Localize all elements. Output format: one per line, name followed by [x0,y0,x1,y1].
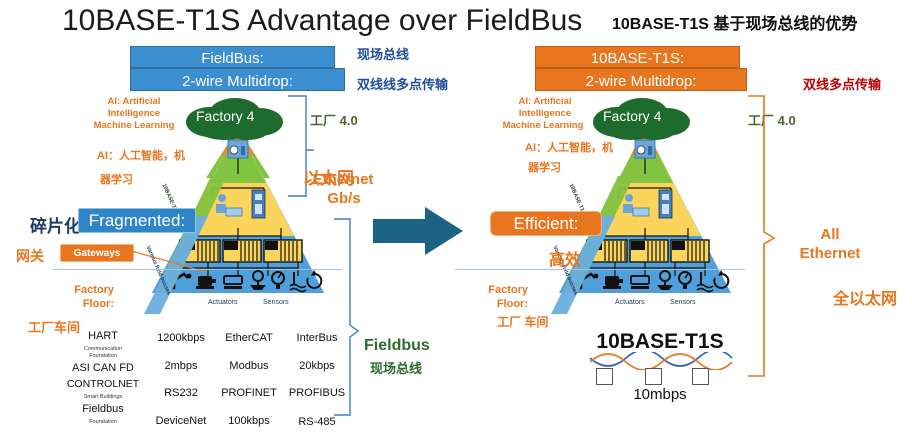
fb-c2-r1: 1200kbps [142,332,220,345]
t1s-node-3 [692,368,709,385]
svg-text:Sensors: Sensors [263,299,289,306]
right-factoryfloor-line1: Factory [450,283,528,297]
page-title-english: 10BASE-T1S Advantage over FieldBus [62,4,622,38]
left-gateway-leader-line [128,248,208,276]
left-ethernet-en1: Ethernet [295,170,391,189]
fb-c3-r3: PROFINET [210,387,288,400]
right-banner-t1s: 10BASE-T1S: [535,46,740,68]
right-ai-line2: Intelligence [495,108,595,120]
left-fragmented-zh: 碎片化 [30,212,81,237]
right-t1s-rate: 10mbps [560,386,760,403]
left-banner-multidrop: 2-wire Multidrop: [130,68,345,91]
left-divider [52,268,342,271]
fb-c1-r4: Fieldbus [64,403,142,416]
fb-c2-r4: DeviceNet [142,415,220,428]
right-t1s-label: 10BASE-T1S [560,330,760,354]
svg-text:Sensors: Sensors [670,299,696,306]
fb-c1-r2: ASI CAN FD [64,362,142,375]
fb-c2-r2: 2mbps [142,360,220,373]
t1s-node-2 [645,368,662,385]
svg-text:Actuators: Actuators [208,299,238,306]
fb-c1-r4-sub1: Foundation [64,419,142,426]
right-banner-multidrop: 2-wire Multidrop: [535,68,747,91]
fb-c2-r3: RS232 [142,387,220,400]
right-factoryfloor-line2: Floor: [450,297,528,311]
left-banner-zh-fieldbus: 现场总线 [357,44,409,63]
fb-c1-r3-sub1: Smart Buildings [64,394,142,401]
left-brace-fieldbus [330,215,360,421]
svg-text:Actuators: Actuators [615,299,645,306]
left-factoryfloor-line2: Floor: [36,297,114,311]
left-cloud-label: Factory 4 [196,108,254,124]
fb-c3-r2: Modbus [210,360,288,373]
fb-c3-r4: 100kbps [210,415,288,428]
fieldbus-column-2: 1200kbps 2mbps RS232 DeviceNet [142,332,220,431]
left-ai-line2: Intelligence [84,108,184,120]
left-gateways-callout[interactable]: Gateways [60,244,134,262]
fb-c1-r1: HART [64,330,142,343]
right-efficient-callout[interactable]: Efficient: [490,211,602,236]
fb-c1-r1-sub2: Foundation [64,353,142,360]
slide-canvas: 10BASE-T1S Advantage over FieldBus 10BAS… [0,0,912,430]
left-factory40-label: 工厂 4.0 [310,110,358,129]
left-factoryfloor-line1: Factory [36,283,114,297]
right-factoryfloor-zh: 工厂 车间 [497,313,548,330]
right-all-ethernet-line2: Ethernet [763,244,897,263]
right-efficient-zh: 高效 [549,246,581,270]
left-gateways-zh: 网关 [16,246,44,266]
fieldbus-column-1: HART Communication Foundation ASI CAN FD… [64,330,142,425]
right-all-ethernet-line1: All [780,225,880,244]
left-ai-line1: AI: Artificial [84,96,184,108]
left-ai-zh-line2: 器学习 [100,172,133,188]
fb-c3-r1: EtherCAT [210,332,288,345]
left-banner-fieldbus: FieldBus: [130,46,335,68]
right-all-ethernet-zh: 全以太网 [833,285,897,309]
left-fieldbus-brace-label-en: Fieldbus [364,337,430,355]
left-fragmented-callout[interactable]: Fragmented: [78,208,196,233]
left-banner-zh-multidrop: 双线线多点传输 [357,74,448,93]
t1s-node-1 [596,368,613,385]
transition-arrow-icon [373,205,465,257]
right-ai-line1: AI: Artificial [495,96,595,108]
right-cloud-label: Factory 4 [603,108,661,124]
fieldbus-column-3: EtherCAT Modbus PROFINET 100kbps [210,332,288,431]
page-title-chinese: 10BASE-T1S 基于现场总线的优势 [612,10,912,34]
right-divider [455,268,745,271]
fb-c1-r3: CONTROLNET [64,378,142,391]
left-fieldbus-brace-label-zh: 现场总线 [370,358,422,377]
right-banner-zh-multidrop: 双线多点传输 [803,74,881,93]
fieldbus-name-grid: HART Communication Foundation ASI CAN FD… [64,330,354,425]
